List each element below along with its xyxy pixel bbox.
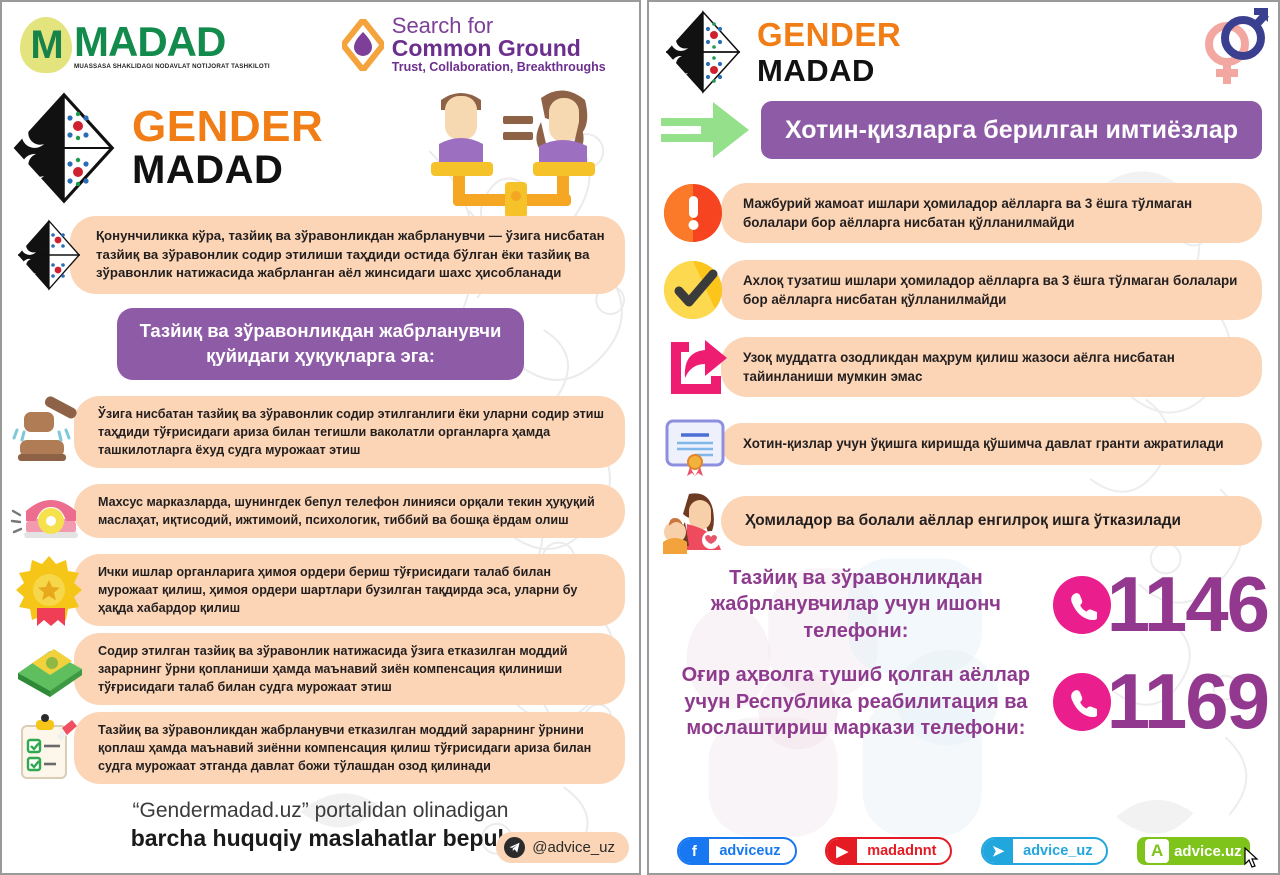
share-arrow-icon (659, 334, 731, 400)
sfcg-logo-text: Search for Common Ground Trust, Collabor… (392, 15, 606, 76)
madad-logo-text: MADAD MUASSASA SHAKLIDAGI NODAVLAT NOTIJ… (74, 21, 270, 73)
gender-madad-diamond-icon (663, 9, 743, 95)
hotline-number-group[interactable]: 1146 (1053, 569, 1268, 641)
youtube-handle: madadnnt (857, 837, 950, 865)
gender-equality-scales-icon (423, 82, 613, 234)
hotline-label: Оғир аҳволга тушиб қолган аёллар учун Ре… (659, 662, 1053, 741)
madad-logo-letter: M (30, 25, 61, 65)
madad-logo-word: MADAD (74, 21, 270, 63)
hotline-row: Оғир аҳволга тушиб қолган аёллар учун Ре… (649, 662, 1278, 741)
list-item-text: Ички ишлар органларига ҳимоя ордери бери… (74, 554, 625, 626)
madad-logo-mark: M (20, 17, 72, 73)
sfcg-line1: Search for (392, 15, 606, 37)
list-item: Мажбурий жамоат ишлари ҳомиладор аёлларг… (649, 180, 1278, 246)
exclamation-circle-icon (659, 180, 731, 246)
rights-list: Ўзига нисбатан тазйиқ ва зўравонлик соди… (2, 396, 639, 784)
advice-uz-link[interactable]: A advice.uz (1137, 837, 1250, 865)
list-item-text: Хотин-қизлар учун ўқишга киришда қўшимча… (721, 423, 1262, 464)
facebook-link[interactable]: f adviceuz (677, 837, 796, 865)
right-brand-words: GENDER MADAD (757, 18, 901, 86)
list-item: Содир этилган тазйиқ ва зўравонлик натиж… (2, 633, 639, 705)
checkmark-circle-icon (659, 257, 731, 323)
right-panel: GENDER MADAD Хотин-қизларг (647, 0, 1280, 875)
brand-madad-word: MADAD (757, 55, 901, 86)
money-icon (10, 633, 88, 705)
list-item: Ахлоқ тузатиш ишлари ҳомиладор аёлларга … (649, 257, 1278, 323)
right-panel-header: GENDER MADAD (649, 2, 1278, 94)
mouse-cursor (1244, 847, 1260, 869)
youtube-link[interactable]: ▶ madadnnt (825, 837, 952, 865)
list-item-text: Махсус марказларда, шунингдек бепул теле… (74, 484, 625, 538)
sfcg-line3: Trust, Collaboration, Breakthroughs (392, 60, 606, 75)
infographic-poster: M MADAD MUASSASA SHAKLIDAGI NODAVLAT NOT… (0, 0, 1280, 875)
brand-gender-word: GENDER (757, 18, 901, 51)
list-item-text: Ўзига нисбатан тазйиқ ва зўравонлик соди… (74, 396, 625, 468)
rights-section-title: Тазйиқ ва зўравонликдан жабрланувчи қуйи… (117, 308, 524, 380)
telephone-icon (10, 475, 88, 547)
gender-symbols-icon (1196, 4, 1270, 88)
left-panel-header: M MADAD MUASSASA SHAKLIDAGI NODAVLAT NOT… (2, 2, 639, 80)
facebook-handle: adviceuz (709, 837, 794, 865)
right-panel-title: Хотин-қизларга берилган имтиёзлар (761, 101, 1262, 160)
left-brand-words: GENDER MADAD (132, 105, 323, 190)
award-rosette-icon (10, 554, 88, 626)
right-title-row: Хотин-қизларга берилган имтиёзлар (649, 94, 1278, 166)
telegram-icon (504, 837, 525, 858)
madad-logo: M MADAD MUASSASA SHAKLIDAGI NODAVLAT NOT… (20, 17, 270, 73)
list-item-text: Узоқ муддатга озодликдан маҳрум қилиш жа… (721, 337, 1262, 397)
phone-icon (1053, 673, 1111, 731)
phone-icon (1053, 576, 1111, 634)
list-item: Хотин-қизлар учун ўқишга киришда қўшимча… (649, 411, 1278, 477)
left-panel: M MADAD MUASSASA SHAKLIDAGI NODAVLAT NOT… (0, 0, 641, 875)
madad-logo-subtitle: MUASSASA SHAKLIDAGI NODAVLAT NOTIJORAT T… (74, 64, 270, 70)
social-links-bar: f adviceuz ▶ madadnnt ➤ advice_uz A advi… (649, 837, 1278, 865)
advice-uz-logo: A (1145, 839, 1169, 863)
hotline-row: Тазйиқ ва зўравонликдан жабрланувчилар у… (649, 565, 1278, 644)
telegram-icon: ➤ (983, 837, 1013, 865)
sfcg-diamond-icon (342, 19, 384, 71)
search-for-common-ground-logo: Search for Common Ground Trust, Collabor… (342, 15, 606, 76)
intro-row: Қонунчиликка кўра, тазйиқ ва зўравонликд… (2, 216, 639, 294)
hotline-number: 1169 (1107, 666, 1268, 738)
list-item: Ўзига нисбатан тазйиқ ва зўравонлик соди… (2, 396, 639, 468)
list-item-text: Ахлоқ тузатиш ишлари ҳомиладор аёлларга … (721, 260, 1262, 320)
gavel-icon (10, 396, 88, 468)
intro-text: Қонунчиликка кўра, тазйиқ ва зўравонликд… (70, 216, 625, 294)
youtube-icon: ▶ (827, 837, 857, 865)
benefits-list: Мажбурий жамоат ишлари ҳомиладор аёлларг… (649, 180, 1278, 554)
list-item-text: Содир этилган тазйиқ ва зўравонлик натиж… (74, 633, 625, 705)
list-item: Ички ишлар органларига ҳимоя ордери бери… (2, 554, 639, 626)
list-item-text: Ҳомиладор ва болали аёллар енгилроқ ишга… (721, 496, 1262, 546)
certificate-icon (659, 411, 731, 477)
checklist-icon (10, 712, 88, 784)
gender-madad-diamond-icon (12, 92, 116, 204)
list-item: Махсус марказларда, шунингдек бепул теле… (2, 475, 639, 547)
list-item-text: Мажбурий жамоат ишлари ҳомиладор аёлларг… (721, 183, 1262, 243)
list-item: Ҳомиладор ва болали аёллар енгилроқ ишга… (649, 488, 1278, 554)
sfcg-line2: Common Ground (392, 37, 606, 60)
brand-gender-word: GENDER (132, 105, 323, 148)
list-item: Тазйиқ ва зўравонликдан жабрланувчи етка… (2, 712, 639, 784)
list-item-text: Тазйиқ ва зўравонликдан жабрланувчи етка… (74, 712, 625, 784)
brand-madad-word: MADAD (132, 151, 323, 190)
mother-child-icon (659, 488, 731, 554)
advice-uz-label: advice.uz (1174, 843, 1242, 860)
hotline-label: Тазйиқ ва зўравонликдан жабрланувчилар у… (659, 565, 1053, 644)
telegram-handle-text: @advice_uz (532, 839, 615, 856)
facebook-icon: f (679, 837, 709, 865)
hotline-number-group[interactable]: 1169 (1053, 666, 1268, 738)
hotline-number: 1146 (1107, 569, 1268, 641)
footer-line1: “Gendermadad.uz” portalidan olinadigan (2, 798, 639, 824)
list-item: Узоқ муддатга озодликдан маҳрум қилиш жа… (649, 334, 1278, 400)
green-arrow-icon (657, 94, 753, 166)
telegram-link[interactable]: ➤ advice_uz (981, 837, 1108, 865)
diamond-icon-small (16, 218, 82, 292)
telegram-handle: advice_uz (1013, 837, 1106, 865)
telegram-handle-chip[interactable]: @advice_uz (496, 832, 629, 863)
